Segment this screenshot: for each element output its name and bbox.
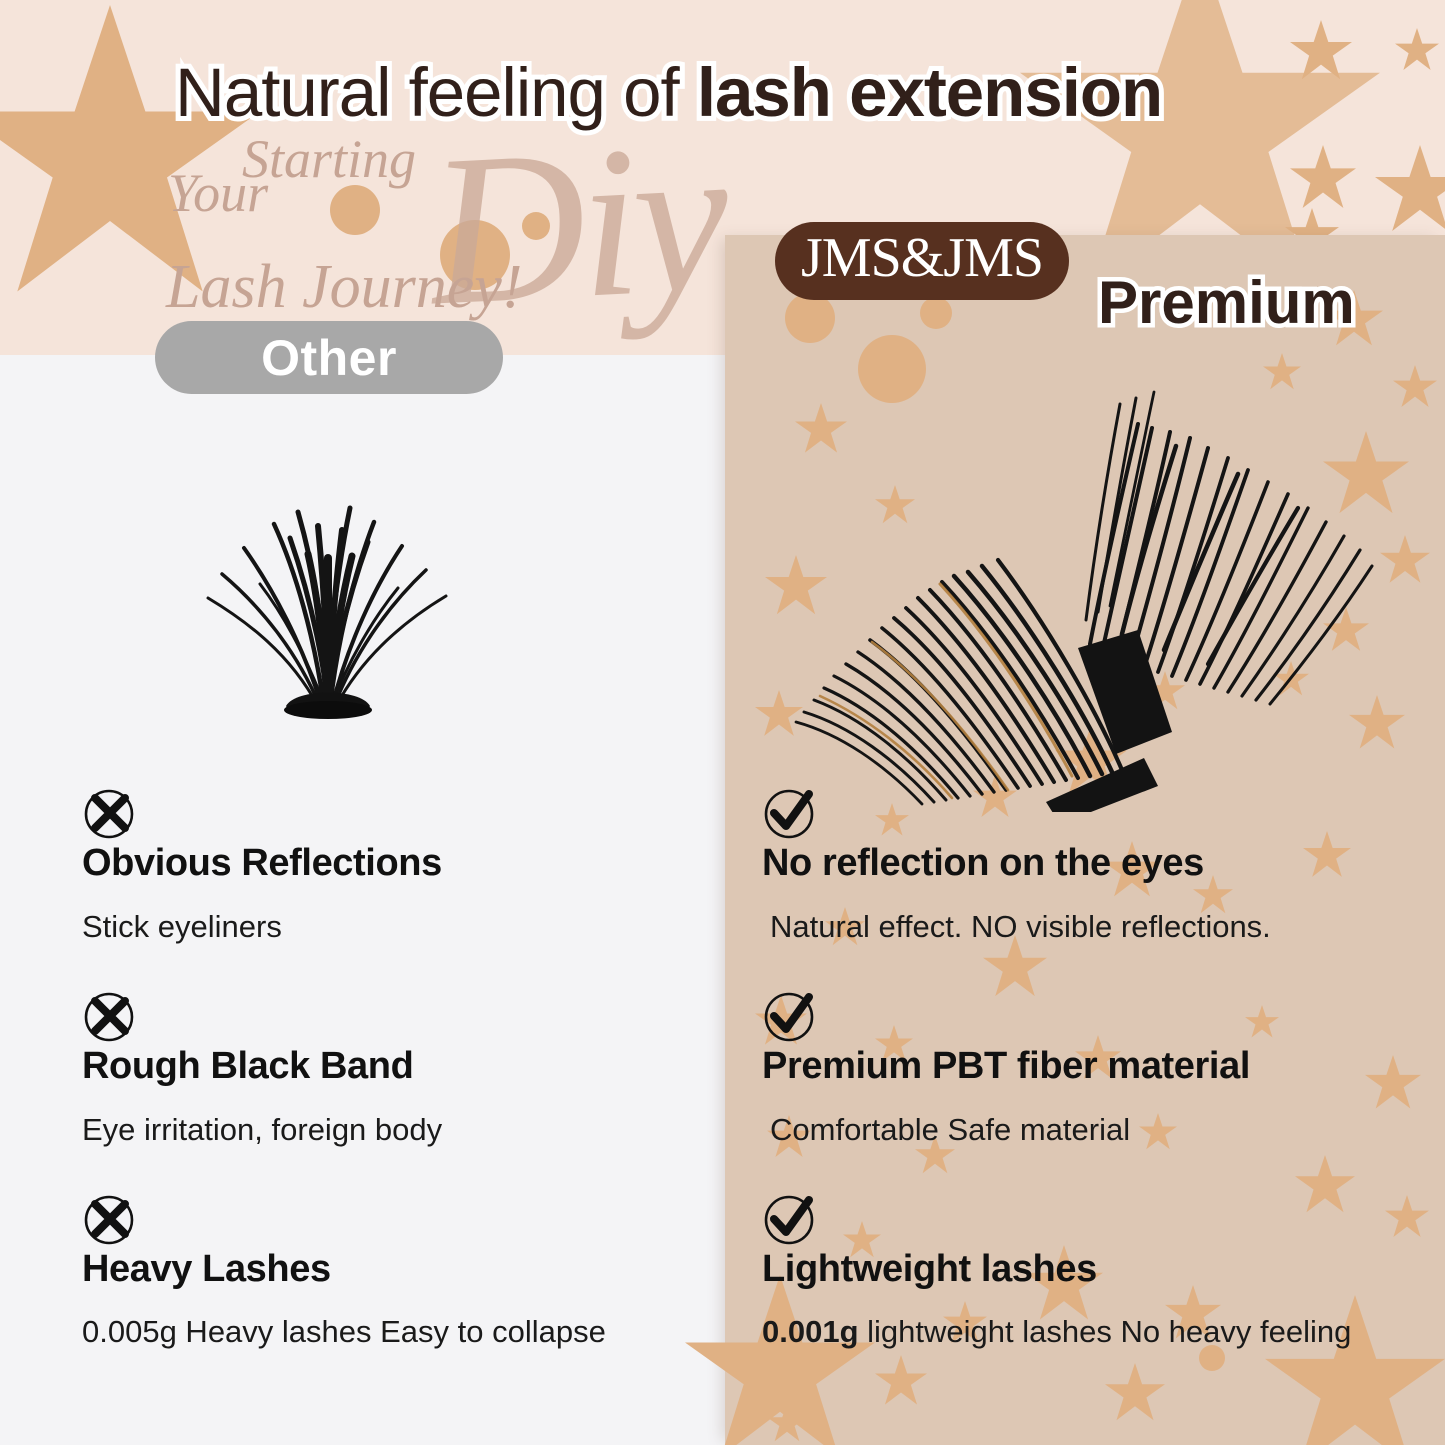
feature-title: Obvious Reflections xyxy=(82,842,702,886)
premium-feature-list: No reflection on the eyes Natural effect… xyxy=(762,786,1432,1351)
feature-title: Premium PBT fiber material xyxy=(762,1045,1432,1089)
feature-subtitle: Stick eyeliners xyxy=(82,908,702,945)
brand-badge[interactable]: JMS&JMS xyxy=(775,222,1069,300)
decorative-star xyxy=(1290,145,1356,211)
decorative-dot xyxy=(785,293,835,343)
decorative-dot xyxy=(330,185,380,235)
other-badge[interactable]: Other xyxy=(155,321,503,394)
page-title: Natural feeling of lash extension xyxy=(175,58,1162,127)
x-mark-icon xyxy=(82,786,136,840)
decorative-star xyxy=(1395,28,1439,72)
script-word-starting: Starting xyxy=(242,128,416,190)
x-mark-icon xyxy=(82,989,136,1043)
decorative-star xyxy=(1290,20,1352,82)
feature-item: No reflection on the eyes Natural effect… xyxy=(762,786,1432,945)
headline-bold: lash extension xyxy=(697,54,1162,131)
feature-subtitle: Comfortable Safe material xyxy=(762,1111,1432,1148)
feature-item: Obvious Reflections Stick eyeliners xyxy=(82,786,702,945)
decorative-star xyxy=(1105,1363,1165,1423)
check-mark-icon xyxy=(762,989,816,1043)
product-comparison-poster: Diy Starting Your Lash Journey! xyxy=(0,0,1445,1445)
feature-title: Rough Black Band xyxy=(82,1045,702,1089)
decorative-star xyxy=(1380,535,1430,585)
decorative-star xyxy=(1375,145,1445,235)
headline-light: Natural feeling of xyxy=(175,54,697,131)
other-feature-list: Obvious Reflections Stick eyeliners Roug… xyxy=(82,786,702,1351)
other-lash-cluster-image xyxy=(178,438,478,723)
premium-badge: Premium xyxy=(1098,268,1355,337)
feature-item: Premium PBT fiber material Comfortable S… xyxy=(762,989,1432,1148)
feature-title: No reflection on the eyes xyxy=(762,842,1432,886)
feature-title: Heavy Lashes xyxy=(82,1248,702,1292)
decorative-star xyxy=(1393,365,1437,409)
feature-title: Lightweight lashes xyxy=(762,1248,1432,1292)
check-mark-icon xyxy=(762,1192,816,1246)
premium-lash-segments-image xyxy=(772,362,1382,812)
feature-item: Rough Black Band Eye irritation, foreign… xyxy=(82,989,702,1148)
feature-item: Lightweight lashes 0.001g lightweight la… xyxy=(762,1192,1432,1351)
feature-subtitle-rest: lightweight lashes No heavy feeling xyxy=(859,1314,1352,1349)
script-word-lash-journey: Lash Journey! xyxy=(166,252,522,323)
decorative-star xyxy=(875,1355,927,1407)
decorative-dot xyxy=(920,297,952,329)
script-word-your: Your xyxy=(168,162,268,224)
feature-subtitle-weight: 0.001g xyxy=(762,1314,859,1349)
feature-item: Heavy Lashes 0.005g Heavy lashes Easy to… xyxy=(82,1192,702,1351)
feature-subtitle: 0.005g Heavy lashes Easy to collapse xyxy=(82,1313,702,1350)
x-mark-icon xyxy=(82,1192,136,1246)
check-mark-icon xyxy=(762,786,816,840)
feature-subtitle: Eye irritation, foreign body xyxy=(82,1111,702,1148)
feature-subtitle: Natural effect. NO visible reflections. xyxy=(762,908,1432,945)
feature-subtitle: 0.001g lightweight lashes No heavy feeli… xyxy=(762,1313,1432,1350)
